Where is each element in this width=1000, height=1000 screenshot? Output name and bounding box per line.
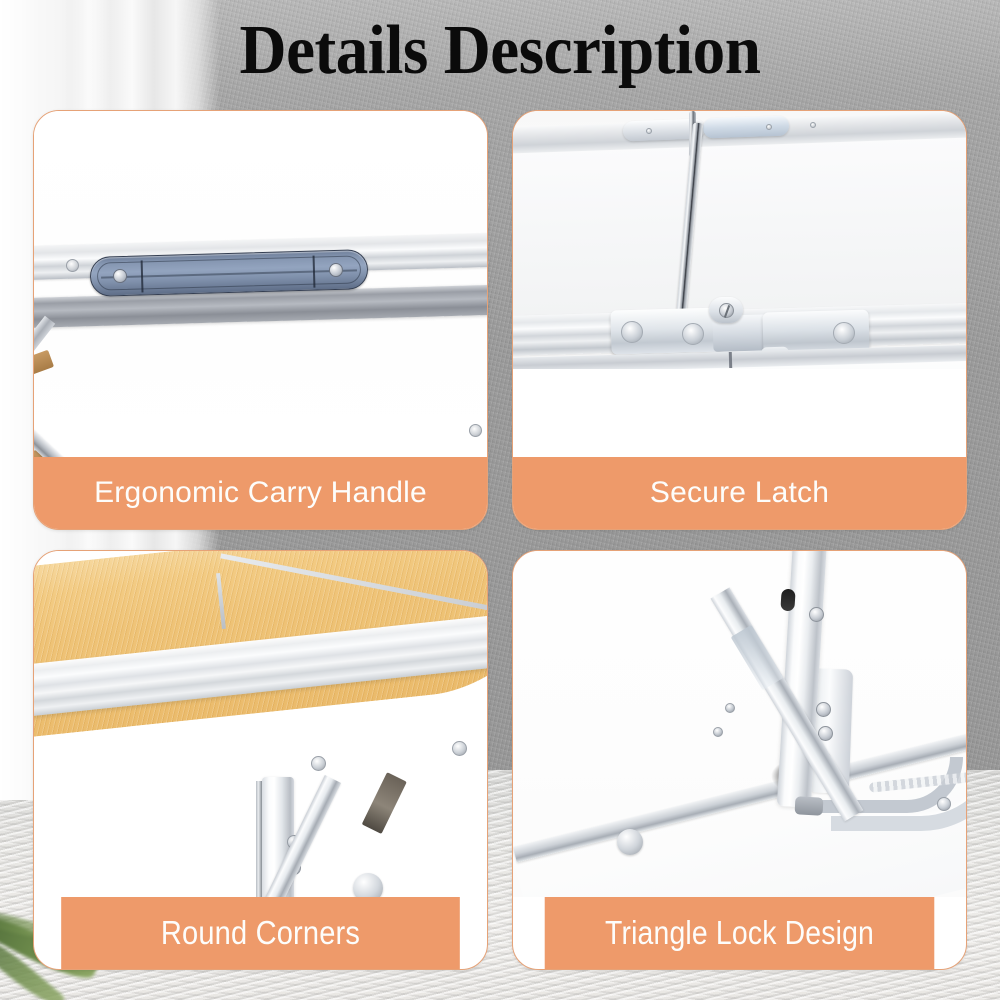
plate-pin-icon (766, 124, 772, 130)
plate-pin-icon (810, 122, 816, 128)
leg-adjust-hole-icon (780, 589, 795, 612)
feature-card-grid: Ergonomic Carry Handle (33, 110, 967, 970)
carry-handle (89, 249, 368, 297)
photo-round-corners (34, 551, 487, 897)
latch-hole-icon (833, 322, 855, 344)
photo-carry-handle (34, 111, 487, 457)
brace-pivot-joint (353, 873, 383, 897)
photo-triangle-lock (513, 551, 966, 897)
rail-seam-gap (729, 352, 732, 368)
photo-lower-blank (513, 369, 966, 457)
feature-card-triangle-lock[interactable]: Triangle Lock Design (512, 550, 967, 970)
card-caption-round-corners: Round Corners (61, 897, 460, 969)
leg-screw-icon (809, 607, 824, 622)
edge-screw-icon (311, 756, 326, 771)
brace-screw-icon (725, 703, 735, 713)
card-caption-secure-latch: Secure Latch (513, 457, 966, 529)
feature-card-round-corners[interactable]: Round Corners (33, 550, 488, 970)
brace-screw-icon (713, 727, 723, 737)
brace-end-joint (617, 829, 643, 855)
card-caption-triangle-lock: Triangle Lock Design (545, 897, 935, 969)
phillips-screw-icon (719, 303, 734, 318)
page-title: Details Description (35, 8, 965, 94)
latch-hole-icon (621, 321, 643, 343)
photo-secure-latch (513, 111, 966, 457)
edge-screw-icon (452, 741, 467, 756)
plate-pin-icon (646, 128, 652, 134)
latch-plate-right-upper (703, 116, 790, 139)
leg-brace (34, 411, 94, 457)
latch-hole-icon (682, 323, 704, 345)
brace-highlight (731, 625, 784, 691)
wood-fragment (34, 350, 54, 379)
feature-card-secure-latch[interactable]: Secure Latch (512, 110, 967, 530)
rail-screw-icon (66, 259, 79, 272)
rail-screw-icon (469, 424, 482, 437)
leg-foot-cap (795, 796, 824, 815)
table-underside (513, 132, 966, 321)
base-rail-screw-icon (937, 797, 951, 811)
brace-shadowed-section (362, 772, 407, 834)
feature-card-carry-handle[interactable]: Ergonomic Carry Handle (33, 110, 488, 530)
card-caption-carry-handle: Ergonomic Carry Handle (34, 457, 487, 529)
leg-screw-icon (816, 702, 831, 717)
